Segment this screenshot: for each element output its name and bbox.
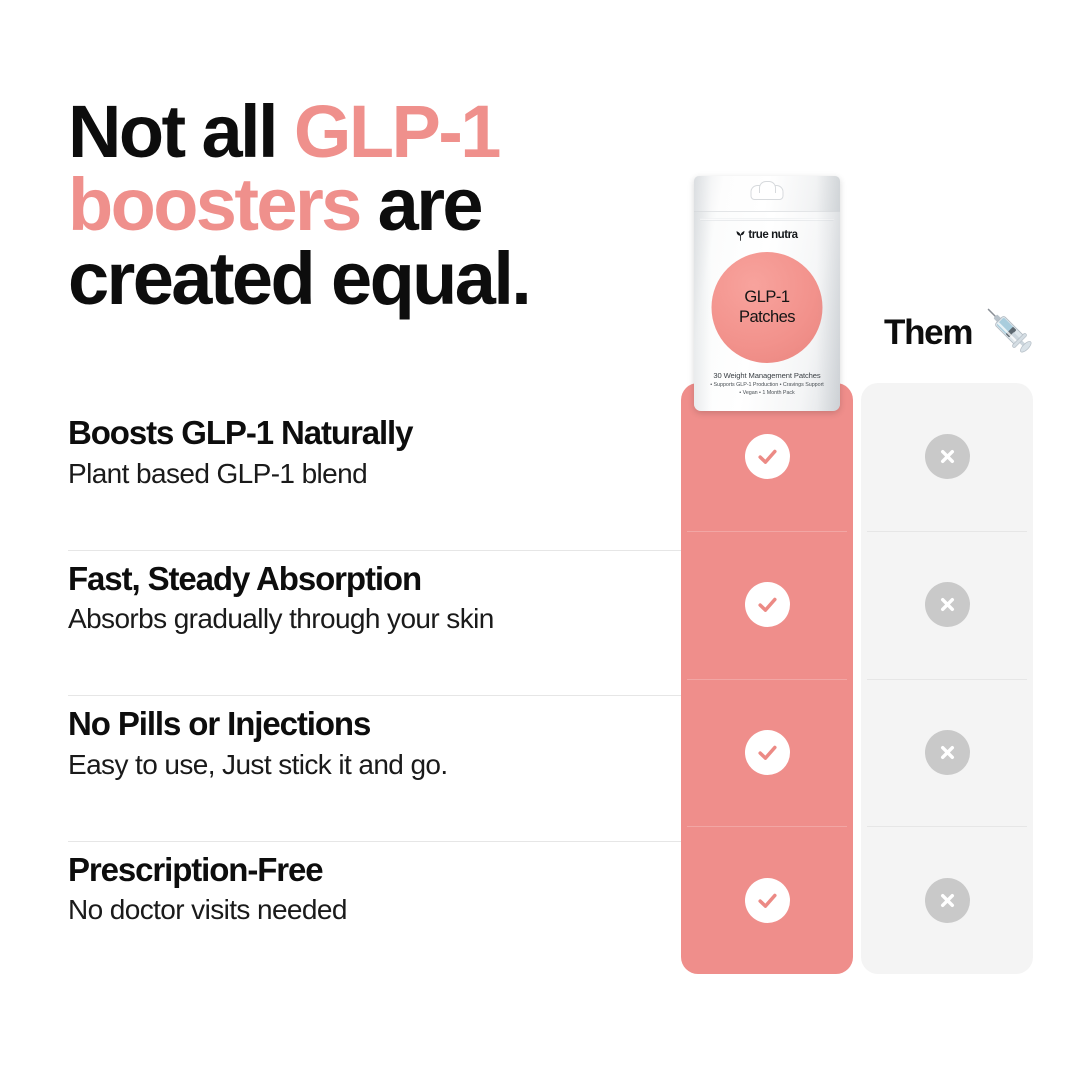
comparison-cell-us-3 xyxy=(681,679,853,827)
brand-name-text: true nutra xyxy=(748,230,797,242)
comparison-cell-them-4 xyxy=(861,826,1033,974)
product-label-line-1: GLP-1 xyxy=(744,288,789,308)
x-circle-icon xyxy=(925,730,970,775)
headline-text-accent-boosters: boosters xyxy=(68,163,360,246)
product-label-badge: GLP-1 Patches xyxy=(712,252,823,363)
fine-print-bullets-2: • Vegan • 1 Month Pack xyxy=(694,389,840,397)
check-circle-icon xyxy=(745,434,790,479)
feature-row: No Pills or Injections Easy to use, Just… xyxy=(68,695,681,841)
headline-text-accent-glp1: GLP-1 xyxy=(294,90,499,173)
product-package-image: true nutra GLP-1 Patches 30 Weight Manag… xyxy=(694,176,840,411)
fine-print-main: 30 Weight Management Patches xyxy=(694,370,840,381)
feature-row: Fast, Steady Absorption Absorbs graduall… xyxy=(68,550,681,696)
check-circle-icon xyxy=(745,878,790,923)
comparison-cell-them-3 xyxy=(861,679,1033,827)
comparison-cell-us-2 xyxy=(681,531,853,679)
check-circle-icon xyxy=(745,730,790,775)
headline-text-are: are xyxy=(360,163,481,246)
x-circle-icon xyxy=(925,582,970,627)
product-label-line-2: Patches xyxy=(739,308,795,328)
comparison-column-us xyxy=(681,383,853,974)
comparison-cell-them-1 xyxy=(861,383,1033,531)
feature-subtitle: Plant based GLP-1 blend xyxy=(68,457,681,491)
brand-lockup: true nutra xyxy=(694,230,840,242)
feature-title: Boosts GLP-1 Naturally xyxy=(68,414,681,452)
feature-title: No Pills or Injections xyxy=(68,705,681,743)
x-circle-icon xyxy=(925,878,970,923)
feature-subtitle: Easy to use, Just stick it and go. xyxy=(68,748,681,782)
page-headline: Not all GLP-1 boosters are created equal… xyxy=(68,95,668,315)
pouch-fine-print: 30 Weight Management Patches • Supports … xyxy=(694,370,840,398)
comparison-cell-us-4 xyxy=(681,826,853,974)
headline-line-3: created equal. xyxy=(68,237,529,320)
feature-subtitle: No doctor visits needed xyxy=(68,893,681,927)
feature-subtitle: Absorbs gradually through your skin xyxy=(68,602,681,636)
them-label-text: Them xyxy=(884,315,972,350)
headline-text-plain: Not all xyxy=(68,90,294,173)
feature-list: Boosts GLP-1 Naturally Plant based GLP-1… xyxy=(68,404,681,986)
feature-title: Fast, Steady Absorption xyxy=(68,560,681,598)
pouch-zipper-seal xyxy=(700,218,834,221)
pouch-header-card xyxy=(694,176,840,212)
headline-line-2: boosters are xyxy=(68,163,481,246)
check-circle-icon xyxy=(745,582,790,627)
syringe-icon xyxy=(978,299,1040,361)
feature-row: Prescription-Free No doctor visits neede… xyxy=(68,841,681,987)
comparison-column-them xyxy=(861,383,1033,974)
infographic-canvas: Not all GLP-1 boosters are created equal… xyxy=(0,0,1080,1080)
leaf-icon xyxy=(736,230,745,241)
feature-row: Boosts GLP-1 Naturally Plant based GLP-1… xyxy=(68,404,681,550)
comparison-cell-them-2 xyxy=(861,531,1033,679)
fine-print-bullets-1: • Supports GLP-1 Production • Cravings S… xyxy=(694,381,840,389)
column-header-them: Them xyxy=(884,303,1040,361)
x-circle-icon xyxy=(925,434,970,479)
feature-title: Prescription-Free xyxy=(68,851,681,889)
pouch-hang-hole xyxy=(751,185,784,200)
headline-line-1: Not all GLP-1 xyxy=(68,90,499,173)
